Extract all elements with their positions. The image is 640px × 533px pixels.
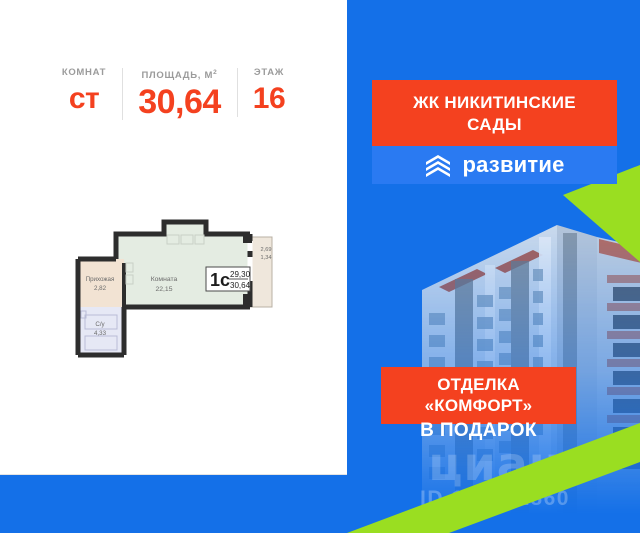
floorplan-card: КОМНАТ ст ПЛОЩАДЬ, м2 30,64 ЭТАЖ 16 — [0, 0, 347, 474]
stat-floor: ЭТАЖ 16 — [237, 66, 301, 119]
complex-title-line1: ЖК НИКИТИНСКИЕ — [378, 92, 611, 114]
stat-rooms-value: ст — [69, 79, 99, 119]
promo-line2: «КОМФОРТ» — [389, 395, 568, 416]
stat-floor-label: ЭТАЖ — [254, 66, 284, 79]
chevrons-up-icon — [424, 153, 452, 177]
complex-title-box: ЖК НИКИТИНСКИЕ САДЫ — [372, 80, 617, 149]
plan-area-bathroom: 4,33 — [93, 330, 106, 337]
plan-label-hallway: Прихожая — [85, 276, 114, 283]
plan-label-room: Комната — [150, 276, 177, 283]
promo-line1: ОТДЕЛКА — [389, 374, 568, 395]
plan-area-balcony-k: 1,34 — [260, 255, 271, 261]
promo-panel: ЖК НИКИТИНСКИЕ САДЫ развитие ОТДЕЛКА «КО… — [347, 0, 640, 533]
stat-area: ПЛОЩАДЬ, м2 30,64 — [122, 66, 237, 122]
apartment-stats: КОМНАТ ст ПЛОЩАДЬ, м2 30,64 ЭТАЖ 16 — [0, 66, 347, 132]
developer-bar[interactable]: развитие — [372, 146, 617, 184]
plan-type-label: 1с — [210, 270, 230, 290]
promo-gift-text: В ПОДАРОК — [381, 420, 576, 442]
promo-line3: В ПОДАРОК — [381, 420, 576, 442]
building-render — [367, 195, 640, 515]
plan-label-bathroom: С/у — [95, 321, 105, 328]
stat-area-value: 30,64 — [138, 82, 221, 122]
developer-name: развитие — [462, 152, 564, 178]
poster-root: КОМНАТ ст ПЛОЩАДЬ, м2 30,64 ЭТАЖ 16 — [0, 0, 640, 533]
plan-area-total: 30,64 — [230, 281, 251, 290]
plan-area-living: 29,30 — [230, 270, 251, 279]
floorplan-drawing: Прихожая 2,82 Комната 22,15 С/у 4,33 2,6… — [0, 215, 347, 385]
stat-area-label: ПЛОЩАДЬ, м2 — [142, 66, 218, 82]
stat-rooms: КОМНАТ ст — [46, 66, 122, 119]
stat-floor-value: 16 — [253, 79, 285, 119]
plan-area-balcony: 2,69 — [260, 247, 271, 253]
floorplan-svg: Прихожая 2,82 Комната 22,15 С/у 4,33 2,6… — [54, 215, 294, 365]
promo-offer-box: ОТДЕЛКА «КОМФОРТ» — [381, 367, 576, 424]
stat-rooms-label: КОМНАТ — [62, 66, 106, 79]
plan-area-room: 22,15 — [155, 286, 172, 293]
plan-type-badge: 1с 29,30 30,64 — [206, 267, 251, 291]
complex-title-line2: САДЫ — [378, 114, 611, 136]
plan-area-hallway: 2,82 — [93, 285, 106, 292]
stat-area-label-sup: 2 — [213, 69, 217, 76]
